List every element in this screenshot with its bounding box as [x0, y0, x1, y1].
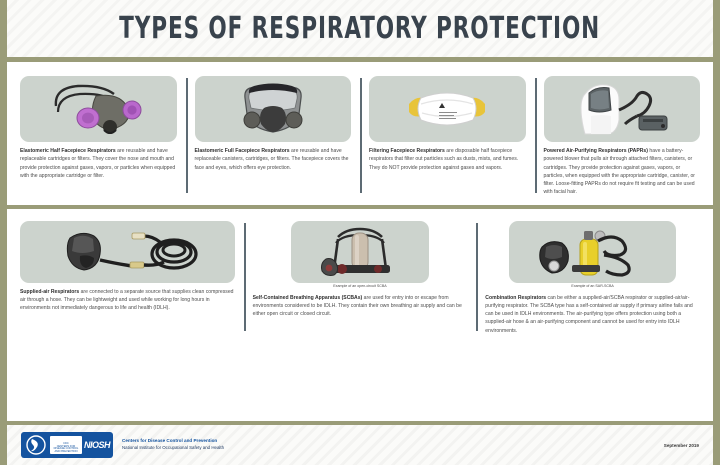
card-caption: Example of an SAR-SCBA — [485, 284, 700, 289]
cdc-niosh-logo: CDC CENTERS FOR DISEASE CONTROL AND PREV… — [21, 432, 113, 458]
card-caption: Example of an open-circuit SCBA — [253, 284, 468, 289]
publication-date: September 2019 — [664, 443, 699, 448]
card-scba: Example of an open-circuit SCBA Self-Con… — [244, 217, 477, 337]
agency-primary: Centers for Disease Control and Preventi… — [122, 438, 224, 445]
card-lead: Elastomeric Half Facepiece Respirators — [20, 148, 116, 154]
card-elastomeric-half-facepiece: Elastomeric Half Facepiece Respirators a… — [11, 72, 186, 199]
card-lead: Supplied-air Respirators — [20, 289, 79, 295]
respirator-row-top: Elastomeric Half Facepiece Respirators a… — [7, 62, 713, 205]
combination-unit-icon — [528, 225, 658, 279]
agency-name: Centers for Disease Control and Preventi… — [122, 438, 224, 452]
elastomeric-full-facepiece-respirator-image — [195, 76, 352, 142]
papr-hood-icon — [567, 80, 677, 138]
cdc-swoosh-icon — [24, 434, 48, 456]
n95-mask-icon — [395, 82, 499, 136]
card-elastomeric-full-facepiece: Elastomeric Full Facepiece Respirators a… — [186, 72, 361, 199]
half-facepiece-icon — [44, 80, 152, 138]
card-description: Powered Air-Purifying Respirators (PAPRs… — [544, 147, 701, 197]
poster-header: Types of Respiratory Protection — [7, 0, 713, 62]
supplied-air-hose-icon — [52, 224, 202, 280]
agency-secondary: National Institute for Occupational Safe… — [122, 445, 224, 450]
card-description: Filtering Facepiece Respirators are disp… — [369, 147, 526, 172]
card-divider — [186, 78, 188, 193]
card-supplied-air: Supplied-air Respirators are connected t… — [11, 217, 244, 337]
card-lead: Powered Air-Purifying Respirators (PAPRs… — [544, 148, 648, 154]
card-body: have a battery-powered blower that pulls… — [544, 148, 695, 195]
scba-cylinder-icon — [312, 225, 408, 279]
card-divider — [476, 223, 478, 331]
card-powered-air-purifying: Powered Air-Purifying Respirators (PAPRs… — [535, 72, 710, 199]
self-contained-breathing-apparatus-image — [291, 221, 428, 283]
card-divider — [360, 78, 362, 193]
card-lead: Elastomeric Full Facepiece Respirators — [195, 148, 290, 154]
card-lead: Combination Respirators — [485, 295, 546, 301]
card-lead: Self-Contained Breathing Apparatus (SCBA… — [253, 295, 363, 301]
card-divider — [535, 78, 537, 193]
infographic-poster: Types of Respiratory Protection — [0, 0, 720, 465]
poster-footer: CDC CENTERS FOR DISEASE CONTROL AND PREV… — [7, 421, 713, 465]
card-description: Elastomeric Full Facepiece Respirators a… — [195, 147, 352, 172]
cdc-wordmark: CDC CENTERS FOR DISEASE CONTROL AND PREV… — [50, 436, 82, 455]
card-filtering-facepiece: Filtering Facepiece Respirators are disp… — [360, 72, 535, 199]
filtering-facepiece-respirator-image — [369, 76, 526, 142]
card-lead: Filtering Facepiece Respirators — [369, 148, 445, 154]
card-description: Self-Contained Breathing Apparatus (SCBA… — [253, 294, 468, 319]
card-description: Elastomeric Half Facepiece Respirators a… — [20, 147, 177, 180]
card-divider — [244, 223, 246, 331]
card-combination: Example of an SAR-SCBA Combination Respi… — [476, 217, 709, 337]
supplied-air-respirator-image — [20, 221, 235, 283]
card-description: Supplied-air Respirators are connected t… — [20, 288, 235, 313]
page-title: Types of Respiratory Protection — [119, 11, 600, 46]
full-facepiece-icon — [230, 80, 316, 138]
respirator-row-bottom: Supplied-air Respirators are connected t… — [7, 209, 713, 341]
powered-air-purifying-respirator-image — [544, 76, 701, 142]
card-description: Combination Respirators can be either a … — [485, 294, 700, 335]
combination-respirator-image — [509, 221, 676, 283]
cdc-wordmark-sub: CENTERS FOR DISEASE CONTROL AND PREVENTI… — [52, 446, 80, 454]
niosh-wordmark: NIOSH — [84, 440, 110, 450]
elastomeric-half-facepiece-respirator-image — [20, 76, 177, 142]
poster-content: Elastomeric Half Facepiece Respirators a… — [7, 62, 713, 341]
